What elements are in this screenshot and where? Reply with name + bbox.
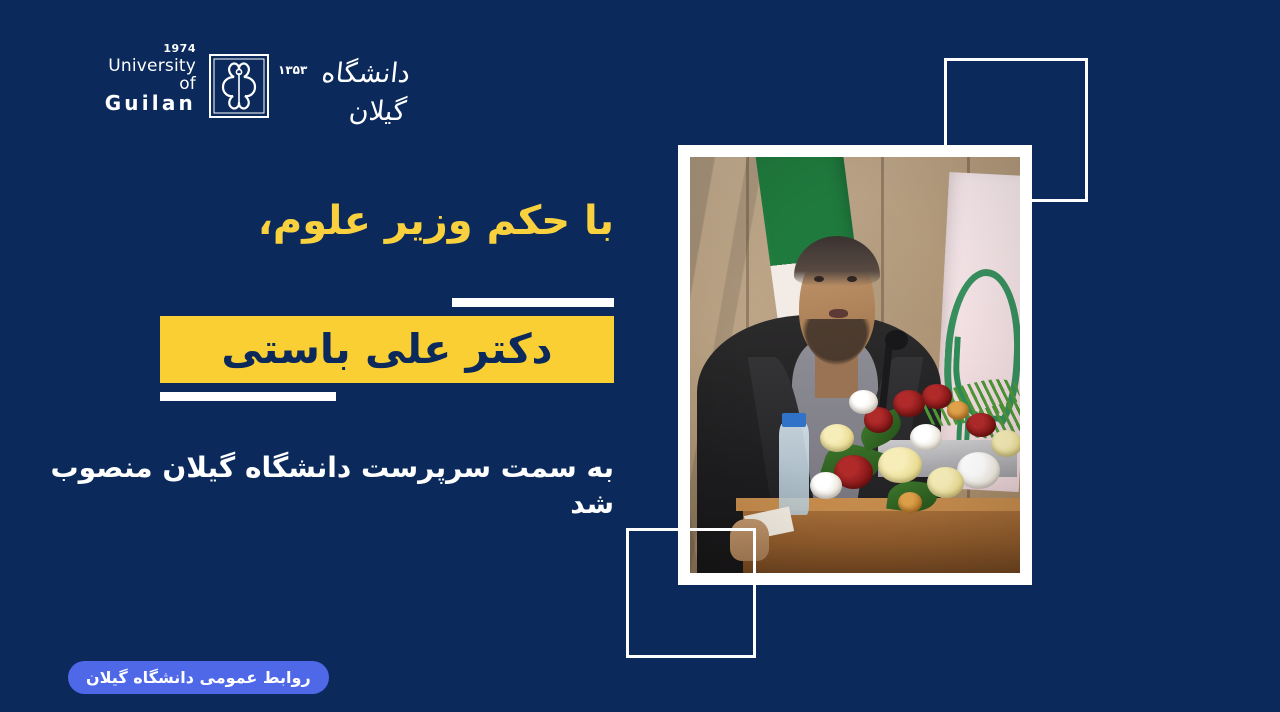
logo-english-block: 1974 University of Guilan (88, 57, 200, 114)
decorative-square-outline-bottom-left (626, 528, 756, 658)
red-rose (966, 413, 995, 437)
cream-lily (878, 447, 922, 484)
logo-english-line2: Guilan (88, 93, 196, 114)
red-rose (893, 390, 925, 417)
white-rose (910, 424, 942, 451)
logo-english-line1: University of (88, 57, 196, 93)
speaker-mouth (829, 309, 849, 318)
guilan-emblem-icon (208, 53, 270, 119)
speaker-photo-frame (678, 145, 1032, 585)
red-rose (922, 384, 951, 408)
name-banner-text: دکتر علی باستی (221, 329, 552, 370)
accent-bar-top (452, 298, 614, 307)
public-relations-badge-text: روابط عمومی دانشگاه گیلان (86, 670, 311, 686)
public-relations-badge: روابط عمومی دانشگاه گیلان (68, 661, 329, 694)
cream-lily (991, 430, 1020, 457)
flower-bouquet (776, 382, 1020, 523)
poster-canvas: 1974 University of Guilan ۱۳۵۳ دانشگاه گ… (0, 0, 1280, 712)
speaker-photo (690, 157, 1020, 573)
cream-lily (927, 467, 964, 498)
headline-sub-line: به سمت سرپرست دانشگاه گیلان منصوب شد (34, 450, 614, 523)
logo-english-year: 1974 (163, 43, 196, 55)
accent-bar-bottom (160, 392, 336, 401)
white-rose (810, 472, 842, 499)
logo-persian-block: ۱۳۵۳ دانشگاه گیلان (278, 51, 408, 121)
orange-bloom (947, 401, 969, 419)
logo-persian-name: دانشگاه گیلان (276, 55, 412, 131)
speaker-hair (794, 236, 880, 286)
university-of-guilan-logo: 1974 University of Guilan ۱۳۵۳ دانشگاه گ… (88, 44, 408, 128)
name-banner: دکتر علی باستی (160, 316, 614, 383)
headline-yellow-line: با حکم وزیر علوم، (54, 196, 614, 246)
microphone-head (885, 330, 908, 351)
